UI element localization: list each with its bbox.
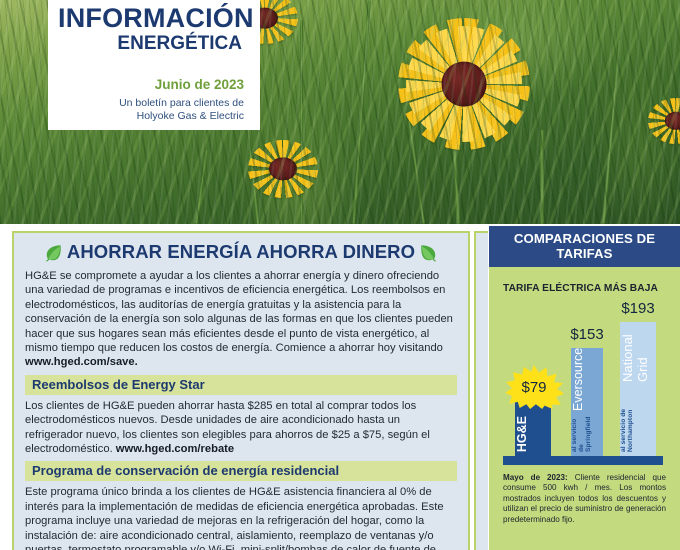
issue-date: Junio de 2023 <box>58 77 244 92</box>
section-heading-energy-star: Reembolsos de Energy Star <box>25 375 457 395</box>
rate-comparison-body: TARIFA ELÉCTRICA MÁS BAJA HG&E $79 <box>489 267 680 550</box>
rate-comparison-header: COMPARACIONES DE TARIFAS <box>489 226 680 267</box>
bar-column-eversource: al servicio de Springfield Eversource <box>571 348 603 456</box>
newsletter-page: INFORMACIÓN ENERGÉTICA Junio de 2023 Un … <box>0 0 680 550</box>
section-body-energy-star: Los clientes de HG&E pueden ahorrar hast… <box>25 399 457 457</box>
section-heading-recp: Programa de conservación de energía resi… <box>25 461 457 481</box>
newsletter-title: INFORMACIÓN <box>58 4 244 33</box>
newsletter-tagline-1: Un boletín para clientes de <box>58 97 244 110</box>
bar-label-group-national-grid: al servicio de Northampton National Grid <box>620 322 656 452</box>
chart-footnote-date: Mayo de 2023: <box>503 473 568 482</box>
article-title-row: AHORRAR ENERGÍA AHORRA DINERO <box>25 241 457 263</box>
rate-comparison-subheader: TARIFA ELÉCTRICA MÁS BAJA <box>489 277 680 294</box>
chart-baseline <box>503 456 663 465</box>
rate-bar-chart: HG&E $79 $153 al servicio de Springfield <box>489 313 680 465</box>
rate-comparison-panel: COMPARACIONES DE TARIFAS TARIFA ELÉCTRIC… <box>489 226 680 550</box>
chart-footnote: Mayo de 2023: Cliente residencial que co… <box>503 473 666 525</box>
leaf-icon <box>419 243 438 262</box>
section-text: Este programa único brinda a los cliente… <box>25 486 444 550</box>
bar-label-hge: HG&E <box>515 416 551 452</box>
bar-value-eversource: $153 <box>570 326 603 343</box>
bar-label-eversource: Eversource <box>571 348 585 411</box>
newsletter-subtitle: ENERGÉTICA <box>58 33 244 55</box>
bar-sublabel-eversource: al servicio de Springfield <box>571 412 592 452</box>
bar-column-national-grid: al servicio de Northampton National Grid <box>620 322 656 456</box>
highlight-starburst: $79 <box>505 365 563 409</box>
bar-value-hge: $79 <box>505 365 563 409</box>
intro-text: HG&E se compromete a ayudar a los client… <box>25 270 453 354</box>
panel-rail <box>474 231 488 550</box>
bar-label-group-eversource: al servicio de Springfield Eversource <box>571 348 603 452</box>
main-article-panel: AHORRAR ENERGÍA AHORRA DINERO HG&E se co… <box>12 231 470 550</box>
intro-link[interactable]: www.hged.com/save. <box>25 356 138 368</box>
hero-photo: INFORMACIÓN ENERGÉTICA Junio de 2023 Un … <box>0 0 680 224</box>
leaf-icon <box>44 243 63 262</box>
article-title: AHORRAR ENERGÍA AHORRA DINERO <box>67 241 415 263</box>
bar-sublabel-national-grid: al servicio de Northampton <box>620 383 634 452</box>
bar-value-national-grid: $193 <box>621 300 654 317</box>
newsletter-tagline-2: Holyoke Gas & Electric <box>58 110 244 123</box>
section-body-recp: Este programa único brinda a los cliente… <box>25 485 457 550</box>
section-link-rebate[interactable]: www.hged.com/rebate <box>116 443 234 455</box>
intro-paragraph: HG&E se compromete a ayudar a los client… <box>25 269 457 370</box>
bar-label-national-grid: National Grid <box>620 322 650 382</box>
masthead-card: INFORMACIÓN ENERGÉTICA Junio de 2023 Un … <box>48 0 260 130</box>
